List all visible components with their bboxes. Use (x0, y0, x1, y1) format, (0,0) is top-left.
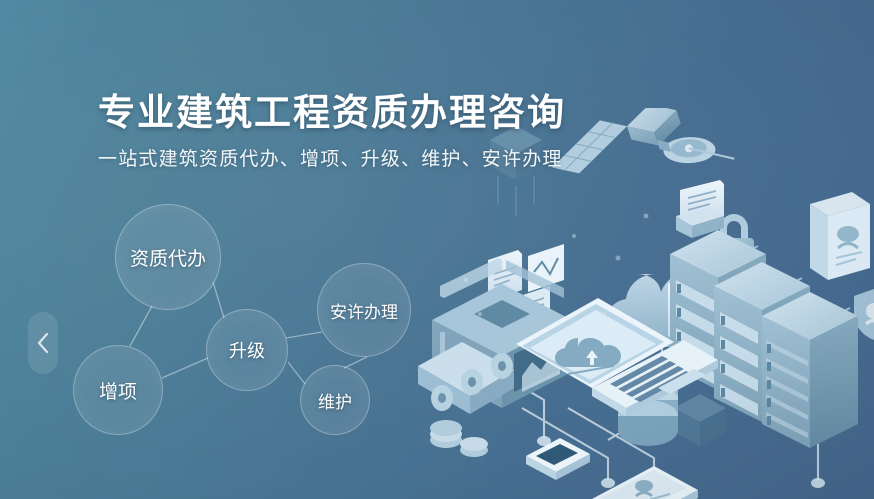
service-node-graph: 资质代办 增项 升级 安许办理 维护 (0, 0, 470, 499)
carousel-prev-button[interactable] (28, 312, 58, 374)
node-graph-edges (0, 0, 470, 499)
graph-node-label: 安许办理 (330, 298, 398, 323)
graph-node-label: 增项 (99, 377, 137, 404)
graph-node-weihu[interactable]: 维护 (300, 365, 370, 435)
smartphone-icon (526, 438, 590, 480)
page-subtitle: 一站式建筑资质代办、增项、升级、维护、安许办理 (98, 144, 563, 171)
graph-node-anxu-banli[interactable]: 安许办理 (317, 263, 411, 357)
graph-node-zizhi-daiban[interactable]: 资质代办 (115, 204, 221, 310)
document-icon-2 (676, 180, 724, 238)
server-rack-icon-3 (762, 292, 858, 448)
graph-node-label: 升级 (229, 337, 265, 363)
graph-node-label: 维护 (318, 388, 352, 413)
tablet-icon (810, 192, 870, 280)
graph-node-shengji[interactable]: 升级 (206, 309, 288, 391)
promo-banner: 资质代办 增项 升级 安许办理 维护 专业建筑工程资质办理咨询 一站式建筑资质代… (0, 0, 874, 499)
floating-cube-icon-2 (674, 394, 726, 446)
floating-cube-icon (490, 126, 542, 216)
graph-node-label: 资质代办 (130, 244, 206, 271)
chevron-left-icon (36, 332, 50, 354)
graph-node-zengxiang[interactable]: 增项 (73, 345, 163, 435)
page-title: 专业建筑工程资质办理咨询 (98, 82, 566, 136)
